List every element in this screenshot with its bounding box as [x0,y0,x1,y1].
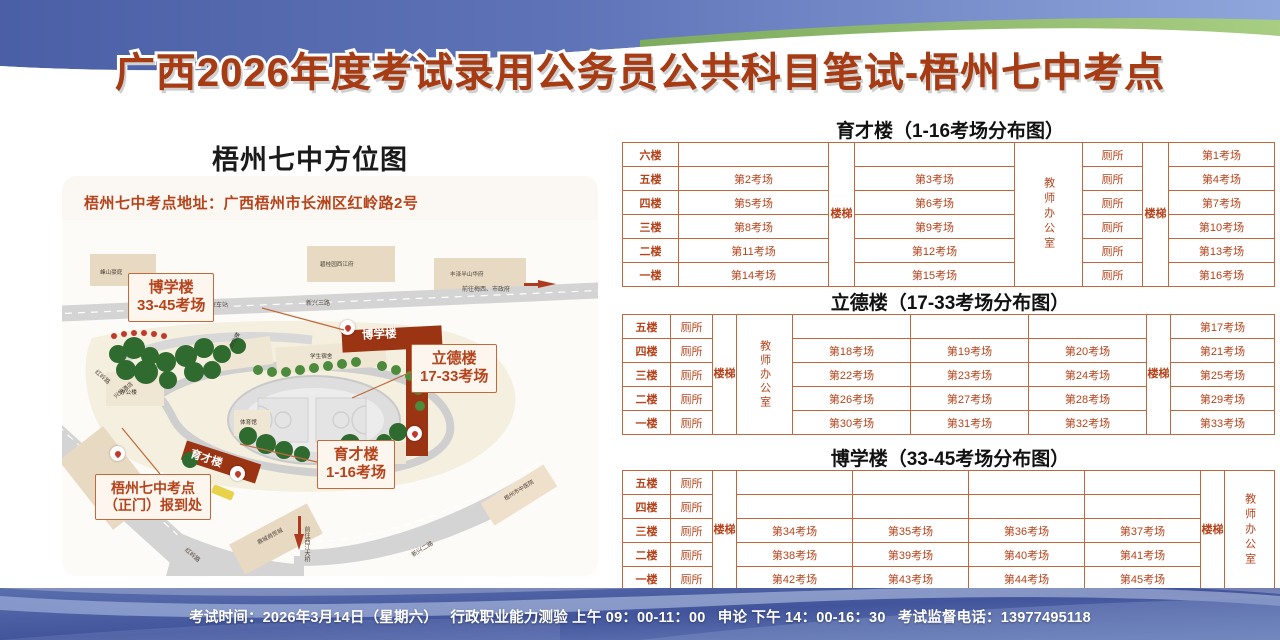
cell-room: 第41考场 [1085,543,1201,567]
callout-gate-line1: 梧州七中考点 [104,480,202,497]
table-yucai: 六楼 楼梯 教师办公室 厕所 楼梯 第1考场 五楼 第2考场 第3考场 厕所 第… [622,142,1275,287]
cell-room: 第42考场 [737,567,853,591]
cell-wc: 厕所 [1083,239,1143,263]
stair-label-2: 楼梯 [1201,525,1224,537]
cell-wc: 厕所 [671,543,713,567]
cell-wc: 厕所 [671,519,713,543]
cell-room: 第14考场 [679,263,829,287]
cell-room: 第43考场 [853,567,969,591]
map-pin-lide[interactable] [407,426,422,441]
cell-teacher-office: 教师办公室 [737,315,793,435]
cell-stair-left: 楼梯 [829,143,855,287]
map-building-boxue: 博学楼 [362,325,397,343]
cell-room: 第28考场 [1029,387,1147,411]
cell-room: 第35考场 [853,519,969,543]
cell-room: 第10考场 [1169,215,1275,239]
cell-floor: 四楼 [623,495,671,519]
map-label-student-dorm: 学生宿舍 [310,352,332,360]
map-pin-boxue[interactable] [340,320,355,335]
map-section-title: 梧州七中方位图 [110,138,510,177]
table-row: 四楼 第5考场 第6考场 厕所 第7考场 [623,191,1275,215]
cell-stair-left: 楼梯 [713,315,737,435]
callout-yucai-line2: 1-16考场 [326,464,386,482]
cell-room: 第9考场 [855,215,1015,239]
stair-label-1: 楼梯 [829,209,854,221]
cell-floor: 六楼 [623,143,679,167]
cell-room: 第13考场 [1169,239,1275,263]
map-label-gymnasium: 体育馆 [240,418,257,426]
cell-wc: 厕所 [671,339,713,363]
map-label-office-building: 办公楼 [120,388,137,396]
callout-yucai: 育才楼 1-16考场 [317,440,395,489]
cell-wc: 厕所 [671,495,713,519]
cell-room: 第38考场 [737,543,853,567]
cell-room: 第1考场 [1169,143,1275,167]
callout-yucai-line1: 育才楼 [326,446,386,464]
cell-floor: 一楼 [623,567,671,591]
footer-phone: 考试监督电话：13977495118 [898,610,1091,626]
cell-room: 第17考场 [1171,315,1275,339]
cell-room: 第8考场 [679,215,829,239]
table-row: 一楼 第14考场 第15考场 厕所 第16考场 [623,263,1275,287]
cell-wc: 厕所 [1083,191,1143,215]
stair-label-2: 楼梯 [1147,369,1170,381]
table-row: 五楼 厕所 楼梯 楼梯 教师办公室 [623,471,1275,495]
callout-boxue: 博学楼 33-45考场 [128,273,214,322]
poster-root: 广西2026年度考试录用公务员公共科目笔试-梧州七中考点 广西2026年度考试录… [0,0,1280,640]
cell-room [1029,315,1147,339]
map-dir-to-bridge: 前往西江大桥 [302,526,311,562]
map-address: 梧州七中考点地址：广西梧州市长洲区红岭路2号 [84,192,418,213]
cell-wc: 厕所 [671,567,713,591]
cell-room [737,471,853,495]
cell-room: 第32考场 [1029,411,1147,435]
cell-room [737,495,853,519]
cell-room: 第39考场 [853,543,969,567]
cell-room [969,471,1085,495]
cell-floor: 一楼 [623,263,679,287]
footer-subject-1: 行政职业能力测验 上午 09：00-11：00 [450,610,705,626]
map-label-biguiyuan-xijiangfu: 碧桂园西江府 [320,260,354,268]
cell-wc: 厕所 [671,315,713,339]
cell-room: 第37考场 [1085,519,1201,543]
cell-room: 第25考场 [1171,363,1275,387]
cell-wc: 厕所 [671,387,713,411]
cell-room: 第44考场 [969,567,1085,591]
callout-boxue-line2: 33-45考场 [137,297,205,315]
cell-room: 第5考场 [679,191,829,215]
table-row: 五楼 厕所 楼梯 教师办公室 楼梯 第17考场 [623,315,1275,339]
cell-room: 第45考场 [1085,567,1201,591]
footer-exam-time: 考试时间：2026年3月14日（星期六） [189,610,438,626]
callout-lide-line2: 17-33考场 [420,368,488,386]
map-label-fengze-banshan-huafu: 丰泽半山华府 [450,270,484,278]
cell-room [855,143,1015,167]
cell-room: 第23考场 [911,363,1029,387]
cell-room: 第4考场 [1169,167,1275,191]
table-row: 三楼 第8考场 第9考场 厕所 第10考场 [623,215,1275,239]
callout-boxue-line1: 博学楼 [137,279,205,297]
callout-gate-line2: （正门）报到处 [104,497,202,514]
cell-room [853,471,969,495]
cell-room: 第16考场 [1169,263,1275,287]
cell-room: 第7考场 [1169,191,1275,215]
cell-floor: 三楼 [623,363,671,387]
cell-floor: 五楼 [623,315,671,339]
cell-room [679,143,829,167]
cell-wc: 厕所 [1083,215,1143,239]
cell-room: 第22考场 [793,363,911,387]
cell-room: 第30考场 [793,411,911,435]
cell-room: 第36考场 [969,519,1085,543]
cell-room: 第18考场 [793,339,911,363]
cell-room [1085,495,1201,519]
footer-info: 考试时间：2026年3月14日（星期六） 行政职业能力测验 上午 09：00-1… [0,606,1280,627]
page-title: 广西2026年度考试录用公务员公共科目笔试-梧州七中考点 [0,40,1280,98]
table-lide: 五楼 厕所 楼梯 教师办公室 楼梯 第17考场 四楼 厕所 第18考场 第19考… [622,314,1275,435]
cell-room: 第20考场 [1029,339,1147,363]
cell-wc: 厕所 [671,471,713,495]
cell-room: 第21考场 [1171,339,1275,363]
callout-gate: 梧州七中考点 （正门）报到处 [95,474,211,520]
cell-room: 第11考场 [679,239,829,263]
cell-room [969,495,1085,519]
cell-floor: 五楼 [623,471,671,495]
footer-subject-2: 申论 下午 14：00-16：30 [718,610,886,626]
cell-room: 第2考场 [679,167,829,191]
cell-room [1085,471,1201,495]
cell-floor: 二楼 [623,543,671,567]
table-row: 二楼 第11考场 第12考场 厕所 第13考场 [623,239,1275,263]
cell-room: 第33考场 [1171,411,1275,435]
cell-floor: 二楼 [623,239,679,263]
cell-stair-left: 楼梯 [713,471,737,591]
cell-wc: 厕所 [1083,263,1143,287]
stair-label-1: 楼梯 [713,525,736,537]
table-title-yucai: 育才楼（1-16考场分布图） [620,116,1280,143]
cell-stair-right: 楼梯 [1143,143,1169,287]
stair-label-2: 楼梯 [1143,209,1168,221]
cell-room: 第12考场 [855,239,1015,263]
callout-lide-line1: 立德楼 [420,350,488,368]
cell-floor: 三楼 [623,519,671,543]
cell-room: 第24考场 [1029,363,1147,387]
table-boxue: 五楼 厕所 楼梯 楼梯 教师办公室 四楼 厕所 [622,470,1275,591]
cell-room: 第26考场 [793,387,911,411]
cell-stair-right: 楼梯 [1147,315,1171,435]
cell-room [911,315,1029,339]
cell-wc: 厕所 [671,411,713,435]
cell-floor: 四楼 [623,339,671,363]
cell-stair-right: 楼梯 [1201,471,1225,591]
cell-room: 第27考场 [911,387,1029,411]
cell-teacher-office: 教师办公室 [1015,143,1083,287]
map-dir-to-meixi: 前往梅西、市政府 [462,284,510,293]
cell-room: 第19考场 [911,339,1029,363]
map-road-xinxing-3: 新兴三路 [306,298,330,307]
cell-floor: 一楼 [623,411,671,435]
cell-floor: 二楼 [623,387,671,411]
cell-room: 第40考场 [969,543,1085,567]
cell-wc: 厕所 [1083,143,1143,167]
table-title-boxue: 博学楼（33-45考场分布图） [620,444,1280,471]
stair-label-1: 楼梯 [713,369,736,381]
cell-floor: 三楼 [623,215,679,239]
cell-room [793,315,911,339]
cell-room: 第3考场 [855,167,1015,191]
cell-room: 第6考场 [855,191,1015,215]
table-row: 六楼 楼梯 教师办公室 厕所 楼梯 第1考场 [623,143,1275,167]
map-pin-gate[interactable] [110,446,125,461]
cell-wc: 厕所 [1083,167,1143,191]
cell-floor: 四楼 [623,191,679,215]
callout-lide: 立德楼 17-33考场 [411,344,497,393]
cell-room: 第15考场 [855,263,1015,287]
map-pin-yucai[interactable] [230,466,245,481]
cell-room [853,495,969,519]
table-title-lide: 立德楼（17-33考场分布图） [620,288,1280,315]
map-label-fengshan-haoting: 峰山豪庭 [100,268,122,276]
cell-room: 第34考场 [737,519,853,543]
cell-room: 第31考场 [911,411,1029,435]
cell-floor: 五楼 [623,167,679,191]
table-row: 五楼 第2考场 第3考场 厕所 第4考场 [623,167,1275,191]
cell-teacher-office: 教师办公室 [1225,471,1275,591]
cell-room: 第29考场 [1171,387,1275,411]
cell-wc: 厕所 [671,363,713,387]
